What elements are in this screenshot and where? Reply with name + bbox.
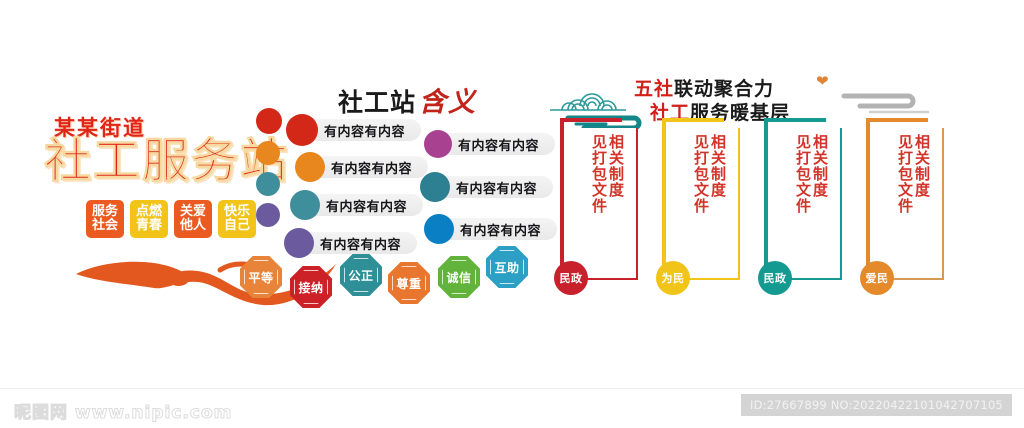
slogan-tag-line1: 服务 <box>92 205 118 219</box>
doc-column-line2: 见打包文件 <box>897 134 912 254</box>
doc-column-text: 相关制度 见打包文件 <box>884 134 942 254</box>
value-octagon-label: 公正 <box>348 267 373 284</box>
value-octagon-label: 尊重 <box>396 275 421 292</box>
bullet-label: 有内容有内容 <box>436 133 555 155</box>
slogan-tag-line1: 快乐 <box>224 205 250 219</box>
image-id-label: ID:27667899 NO:20220422101042707105 <box>741 394 1012 416</box>
slogan-tag: 快乐 自己 <box>218 200 256 238</box>
doc-column-line1: 相关制度 <box>914 134 929 254</box>
slogan-tag-line2: 自己 <box>224 219 250 233</box>
doc-column-badge[interactable]: 民政 <box>758 261 792 295</box>
bullet-dot <box>424 214 454 244</box>
doc-column-line1: 相关制度 <box>608 134 623 254</box>
right-heading-line1-red: 五社 <box>634 78 674 100</box>
bullet-dot <box>295 152 325 182</box>
doc-column-badge[interactable]: 为民 <box>656 261 690 295</box>
title-accent-dot <box>256 141 280 165</box>
bullet-label: 有内容有内容 <box>302 119 421 141</box>
slogan-tag-line1: 点燃 <box>136 205 162 219</box>
slogan-tag-row: 服务 社会 点燃 青春 关爱 他人 快乐 自己 <box>86 200 256 238</box>
poster-canvas: 某某街道 社工服务站 服务 社会 点燃 青春 关爱 他人 快乐 自己 <box>0 0 1024 427</box>
footer-bar: 昵图网 www.nipic.com ID:27667899 NO:2022042… <box>0 388 1024 428</box>
value-octagon[interactable]: 尊重 <box>388 262 430 304</box>
value-octagon-label: 互助 <box>494 259 519 276</box>
value-octagon[interactable]: 诚信 <box>438 256 480 298</box>
bullet-dot <box>290 190 320 220</box>
center-heading-black: 社工站 <box>338 88 416 117</box>
slogan-tag-line1: 关爱 <box>180 205 206 219</box>
content-bullet[interactable]: 有内容有内容 <box>424 130 555 158</box>
doc-column-text: 相关制度 见打包文件 <box>782 134 840 254</box>
value-octagon-label: 平等 <box>248 269 273 286</box>
center-heading-red: 含义 <box>419 87 477 118</box>
slogan-tag-line2: 他人 <box>180 219 206 233</box>
value-octagon[interactable]: 接纳 <box>290 266 332 308</box>
bullet-dot <box>286 114 318 146</box>
title-accent-dots <box>256 108 282 234</box>
slogan-tag-line2: 社会 <box>92 219 118 233</box>
bullet-dot <box>284 228 314 258</box>
doc-column-badge[interactable]: 民政 <box>554 261 588 295</box>
doc-column-line2: 见打包文件 <box>795 134 810 254</box>
title-accent-dot <box>256 108 282 134</box>
doc-column-badge[interactable]: 爱民 <box>860 261 894 295</box>
right-heading-line1-black: 联动聚合力 <box>674 78 774 100</box>
value-octagon-row: 平等 接纳 公正 尊重 诚信 互助 <box>236 250 536 308</box>
bullet-dot <box>420 172 450 202</box>
doc-column[interactable]: 相关制度 见打包文件 民政 <box>764 118 844 293</box>
slogan-tag-line2: 青春 <box>136 219 162 233</box>
doc-column-line2: 见打包文件 <box>693 134 708 254</box>
slogan-tag: 服务 社会 <box>86 200 124 238</box>
bullet-label: 有内容有内容 <box>309 156 428 178</box>
doc-column[interactable]: 相关制度 见打包文件 为民 <box>662 118 742 293</box>
doc-column-line1: 相关制度 <box>812 134 827 254</box>
doc-column-line1: 相关制度 <box>710 134 725 254</box>
doc-column-line2: 见打包文件 <box>591 134 606 254</box>
doc-column[interactable]: 相关制度 见打包文件 民政 <box>560 118 640 293</box>
slogan-tag: 关爱 他人 <box>174 200 212 238</box>
value-octagon[interactable]: 公正 <box>340 254 382 296</box>
right-heading-line1: 五社联动聚合力 <box>634 78 790 102</box>
doc-column-text: 相关制度 见打包文件 <box>578 134 636 254</box>
main-title: 社工服务站 <box>44 138 289 185</box>
bullet-label: 有内容有内容 <box>438 218 557 240</box>
value-octagon[interactable]: 平等 <box>240 256 282 298</box>
slogan-tag: 点燃 青春 <box>130 200 168 238</box>
value-octagon-label: 接纳 <box>298 279 323 296</box>
value-octagon[interactable]: 互助 <box>486 246 528 288</box>
doc-column-text: 相关制度 见打包文件 <box>680 134 738 254</box>
watermark-url: www.nipic.com <box>75 403 232 423</box>
bullet-dot <box>424 130 452 158</box>
doc-column[interactable]: 相关制度 见打包文件 爱民 <box>866 118 946 293</box>
swoosh-decoration <box>840 88 930 120</box>
content-bullet[interactable]: 有内容有内容 <box>424 214 557 244</box>
content-bullet[interactable]: 有内容有内容 <box>286 114 421 146</box>
bullet-label: 有内容有内容 <box>434 176 553 198</box>
watermark-logo: 昵图网 <box>14 403 68 423</box>
bullet-label: 有内容有内容 <box>304 194 423 216</box>
heart-icon: ❤ <box>816 74 829 89</box>
content-bullet[interactable]: 有内容有内容 <box>420 172 553 202</box>
content-bullet[interactable]: 有内容有内容 <box>290 190 423 220</box>
title-accent-dot <box>256 172 280 196</box>
value-octagon-label: 诚信 <box>446 269 471 286</box>
title-accent-dot <box>256 203 280 227</box>
watermark: 昵图网 www.nipic.com <box>14 398 232 423</box>
content-bullet[interactable]: 有内容有内容 <box>295 152 428 182</box>
